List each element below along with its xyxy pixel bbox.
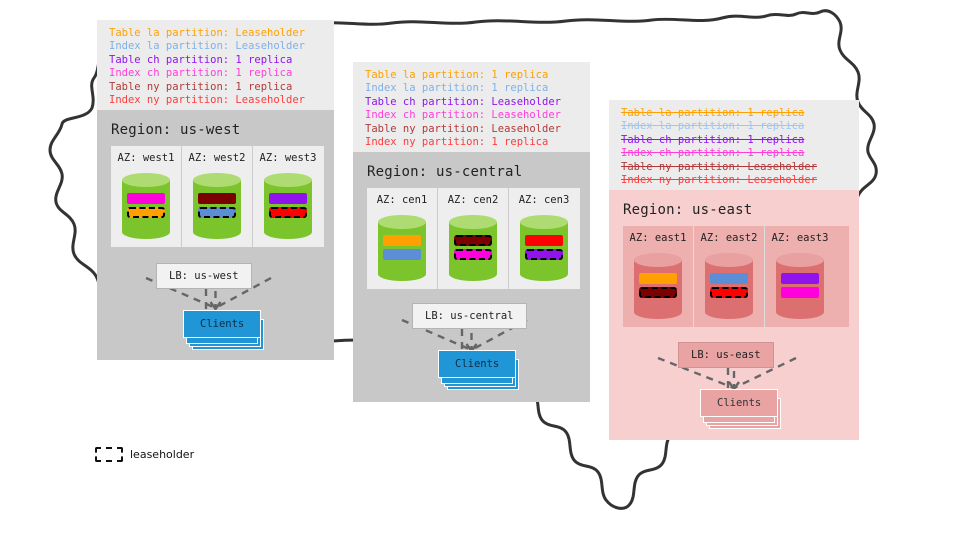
az-east1: AZ: east1 xyxy=(623,226,694,327)
az-cen1: AZ: cen1 xyxy=(367,188,438,289)
az-label: AZ: west3 xyxy=(260,152,317,164)
partition-block-replica xyxy=(710,273,748,284)
az-container: AZ: cen1AZ: cen2AZ: cen3 xyxy=(367,188,580,289)
info-line: Table ch partition: 1 replica xyxy=(109,54,322,67)
arrow-head xyxy=(729,382,739,389)
info-line: Index la partition: 1 replica xyxy=(621,120,847,133)
az-container: AZ: east1AZ: east2AZ: east3 xyxy=(623,226,849,327)
partition-block-leaseholder xyxy=(127,207,165,218)
node-cylinder xyxy=(520,215,568,281)
info-line: Table la partition: 1 replica xyxy=(621,107,847,120)
partition-block-replica xyxy=(781,273,819,284)
cylinder-top xyxy=(705,253,753,267)
info-panel-us-east: Table la partition: 1 replicaIndex la pa… xyxy=(609,100,859,195)
partition-block-replica xyxy=(383,235,421,246)
az-label: AZ: cen3 xyxy=(519,194,570,206)
info-line: Table ny partition: Leaseholder xyxy=(365,123,578,136)
info-line: Index la partition: Leaseholder xyxy=(109,40,322,53)
partition-block-leaseholder xyxy=(639,287,677,298)
partition-block-leaseholder xyxy=(710,287,748,298)
clients-us-west[interactable]: Clients xyxy=(183,310,261,338)
cylinder-top xyxy=(122,173,170,187)
partition-block-replica xyxy=(781,287,819,298)
legend: leaseholder xyxy=(95,447,194,462)
az-label: AZ: east2 xyxy=(701,232,758,244)
info-line: Table la partition: Leaseholder xyxy=(109,27,322,40)
partition-block-replica xyxy=(127,193,165,204)
region-title: Region: us-west xyxy=(97,110,334,146)
info-line: Table ch partition: Leaseholder xyxy=(365,96,578,109)
partition-blocks xyxy=(639,273,677,301)
info-line: Table la partition: 1 replica xyxy=(365,69,578,82)
partition-block-leaseholder xyxy=(454,249,492,260)
cylinder-top xyxy=(634,253,682,267)
az-label: AZ: west1 xyxy=(118,152,175,164)
partition-block-replica xyxy=(198,193,236,204)
partition-block-replica xyxy=(383,249,421,260)
node-cylinder xyxy=(705,253,753,319)
az-label: AZ: east1 xyxy=(630,232,687,244)
partition-block-leaseholder xyxy=(454,235,492,246)
info-line: Index ny partition: Leaseholder xyxy=(109,94,322,107)
region-title: Region: us-east xyxy=(609,190,859,226)
info-line: Index ch partition: 1 replica xyxy=(621,147,847,160)
az-west3: AZ: west3 xyxy=(253,146,323,247)
info-line: Index ch partition: Leaseholder xyxy=(365,109,578,122)
clients-label: Clients xyxy=(438,350,516,378)
cylinder-top xyxy=(193,173,241,187)
info-line: Index ny partition: Leaseholder xyxy=(621,174,847,187)
az-label: AZ: east3 xyxy=(772,232,829,244)
az-west2: AZ: west2 xyxy=(182,146,253,247)
node-cylinder xyxy=(634,253,682,319)
load-balancer-us-central[interactable]: LB: us-central xyxy=(412,303,527,329)
info-panel-us-central: Table la partition: 1 replicaIndex la pa… xyxy=(353,62,590,157)
az-cen2: AZ: cen2 xyxy=(438,188,509,289)
partition-blocks xyxy=(454,235,492,263)
region-title: Region: us-central xyxy=(353,152,590,188)
partition-blocks xyxy=(383,235,421,263)
partition-block-leaseholder xyxy=(198,207,236,218)
node-cylinder xyxy=(776,253,824,319)
cylinder-top xyxy=(520,215,568,229)
clients-us-east[interactable]: Clients xyxy=(700,389,778,417)
leaseholder-dashed-box-icon xyxy=(95,447,123,462)
clients-us-central[interactable]: Clients xyxy=(438,350,516,378)
partition-blocks xyxy=(127,193,165,221)
info-line: Table ch partition: 1 replica xyxy=(621,134,847,147)
legend-label: leaseholder xyxy=(130,448,194,461)
node-cylinder xyxy=(264,173,312,239)
info-line: Index ch partition: 1 replica xyxy=(109,67,322,80)
clients-label: Clients xyxy=(183,310,261,338)
partition-blocks xyxy=(781,273,819,301)
partition-block-replica xyxy=(639,273,677,284)
load-balancer-us-west[interactable]: LB: us-west xyxy=(156,263,252,289)
node-cylinder xyxy=(122,173,170,239)
cylinder-top xyxy=(449,215,497,229)
info-line: Table ny partition: 1 replica xyxy=(109,81,322,94)
info-line: Table ny partition: Leaseholder xyxy=(621,161,847,174)
az-east2: AZ: east2 xyxy=(694,226,765,327)
cylinder-top xyxy=(264,173,312,187)
partition-blocks xyxy=(198,193,236,221)
az-label: AZ: cen2 xyxy=(448,194,499,206)
clients-label: Clients xyxy=(700,389,778,417)
cylinder-top xyxy=(776,253,824,267)
az-label: AZ: west2 xyxy=(189,152,246,164)
partition-block-leaseholder xyxy=(525,249,563,260)
load-balancer-us-east[interactable]: LB: us-east xyxy=(678,342,774,368)
az-container: AZ: west1AZ: west2AZ: west3 xyxy=(111,146,324,247)
partition-blocks xyxy=(525,235,563,263)
node-cylinder xyxy=(193,173,241,239)
partition-block-replica xyxy=(525,235,563,246)
node-cylinder xyxy=(378,215,426,281)
info-panel-us-west: Table la partition: LeaseholderIndex la … xyxy=(97,20,334,115)
cylinder-top xyxy=(378,215,426,229)
partition-blocks xyxy=(710,273,748,301)
az-cen3: AZ: cen3 xyxy=(509,188,579,289)
info-line: Index ny partition: 1 replica xyxy=(365,136,578,149)
node-cylinder xyxy=(449,215,497,281)
partition-block-replica xyxy=(269,193,307,204)
info-line: Index la partition: 1 replica xyxy=(365,82,578,95)
az-label: AZ: cen1 xyxy=(377,194,428,206)
az-west1: AZ: west1 xyxy=(111,146,182,247)
partition-block-leaseholder xyxy=(269,207,307,218)
partition-blocks xyxy=(269,193,307,221)
arrow-head xyxy=(211,302,221,309)
az-east3: AZ: east3 xyxy=(765,226,835,327)
